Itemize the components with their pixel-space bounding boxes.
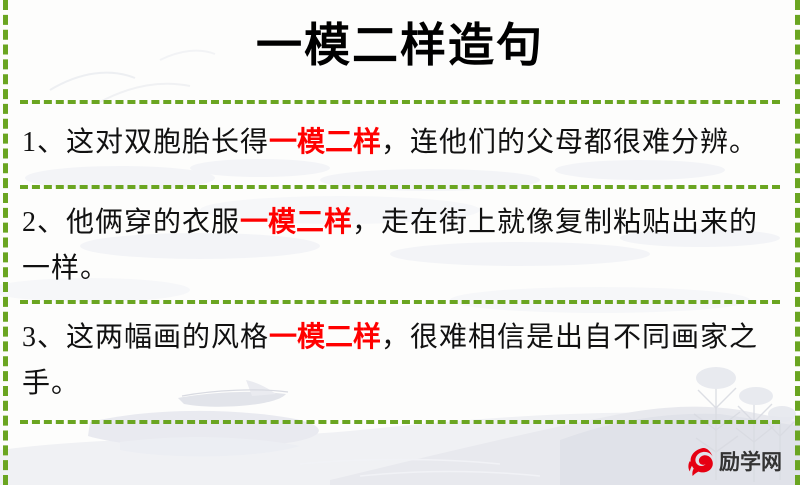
keyword-highlight-1: 一模二样 [269, 127, 381, 158]
sentence-before-2: 他俩穿的衣服 [66, 207, 240, 238]
sentence-after-1: ，连他们的父母都很难分辨。 [381, 127, 758, 158]
sentence-item-1: 1、这对双胞胎长得一模二样，连他们的父母都很难分辨。 [22, 120, 762, 166]
divider-2 [20, 185, 780, 189]
keyword-highlight-2: 一模二样 [240, 207, 352, 238]
sentence-item-3: 3、这两幅画的风格一模二样，很难相信是出自不同画家之手。 [22, 315, 762, 407]
sentence-index-3: 3、 [22, 322, 66, 353]
sentence-before-1: 这对双胞胎长得 [66, 127, 269, 158]
sentence-index-1: 1、 [22, 127, 66, 158]
site-logo: 励学网 [687, 447, 782, 477]
slide-canvas: 一模二样造句 1、这对双胞胎长得一模二样，连他们的父母都很难分辨。 2、他俩穿的… [0, 0, 800, 485]
sentence-before-3: 这两幅画的风格 [66, 322, 269, 353]
keyword-highlight-3: 一模二样 [269, 322, 381, 353]
divider-4 [20, 420, 780, 424]
divider-3 [20, 300, 780, 304]
sentence-item-2: 2、他俩穿的衣服一模二样，走在街上就像复制粘贴出来的一样。 [22, 200, 762, 292]
flame-swirl-icon [687, 447, 715, 477]
divider-1 [20, 100, 780, 104]
page-title: 一模二样造句 [0, 12, 800, 78]
sentence-index-2: 2、 [22, 207, 66, 238]
logo-text: 励学网 [719, 452, 782, 473]
